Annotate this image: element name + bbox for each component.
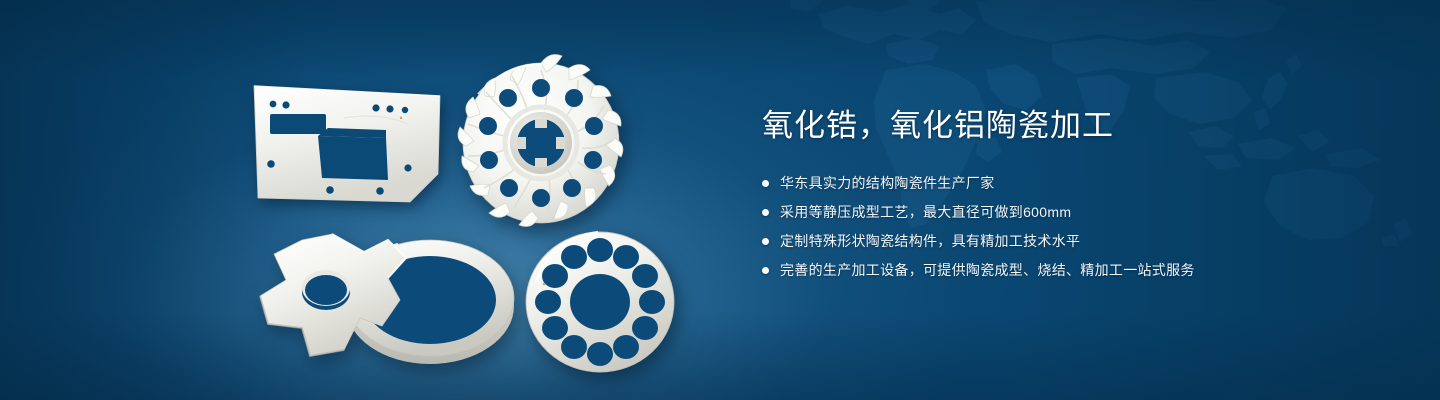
banner-copy: 氧化锆，氧化铝陶瓷加工 华东具实力的结构陶瓷件生产厂家 采用等静压成型工艺，最大… xyxy=(762,108,1382,281)
bullet-dot-icon xyxy=(762,267,769,274)
ceramic-mounting-plate xyxy=(248,78,446,206)
bullet-dot-icon xyxy=(762,180,769,187)
list-item: 采用等静压成型工艺，最大直径可做到600mm xyxy=(762,202,1382,223)
feature-list: 华东具实力的结构陶瓷件生产厂家 采用等静压成型工艺，最大直径可做到600mm 定… xyxy=(762,173,1382,281)
list-item-label: 采用等静压成型工艺，最大直径可做到600mm xyxy=(780,202,1071,223)
list-item: 定制特殊形状陶瓷结构件，具有精加工技术水平 xyxy=(762,231,1382,252)
banner-headline: 氧化锆，氧化铝陶瓷加工 xyxy=(762,108,1382,145)
ceramic-perforated-disc xyxy=(522,224,678,374)
bullet-dot-icon xyxy=(762,238,769,245)
list-item-label: 华东具实力的结构陶瓷件生产厂家 xyxy=(780,173,995,194)
ceramic-star-and-ring xyxy=(248,222,524,374)
promo-banner: 氧化锆，氧化铝陶瓷加工 华东具实力的结构陶瓷件生产厂家 采用等静压成型工艺，最大… xyxy=(0,0,1440,400)
list-item-label: 定制特殊形状陶瓷结构件，具有精加工技术水平 xyxy=(780,231,1080,252)
list-item-label: 完善的生产加工设备，可提供陶瓷成型、烧结、精加工一站式服务 xyxy=(780,260,1195,281)
ceramic-impeller-disc xyxy=(448,48,634,236)
list-item: 华东具实力的结构陶瓷件生产厂家 xyxy=(762,173,1382,194)
list-item: 完善的生产加工设备，可提供陶瓷成型、烧结、精加工一站式服务 xyxy=(762,260,1382,281)
product-collage xyxy=(0,0,760,400)
bullet-dot-icon xyxy=(762,209,769,216)
